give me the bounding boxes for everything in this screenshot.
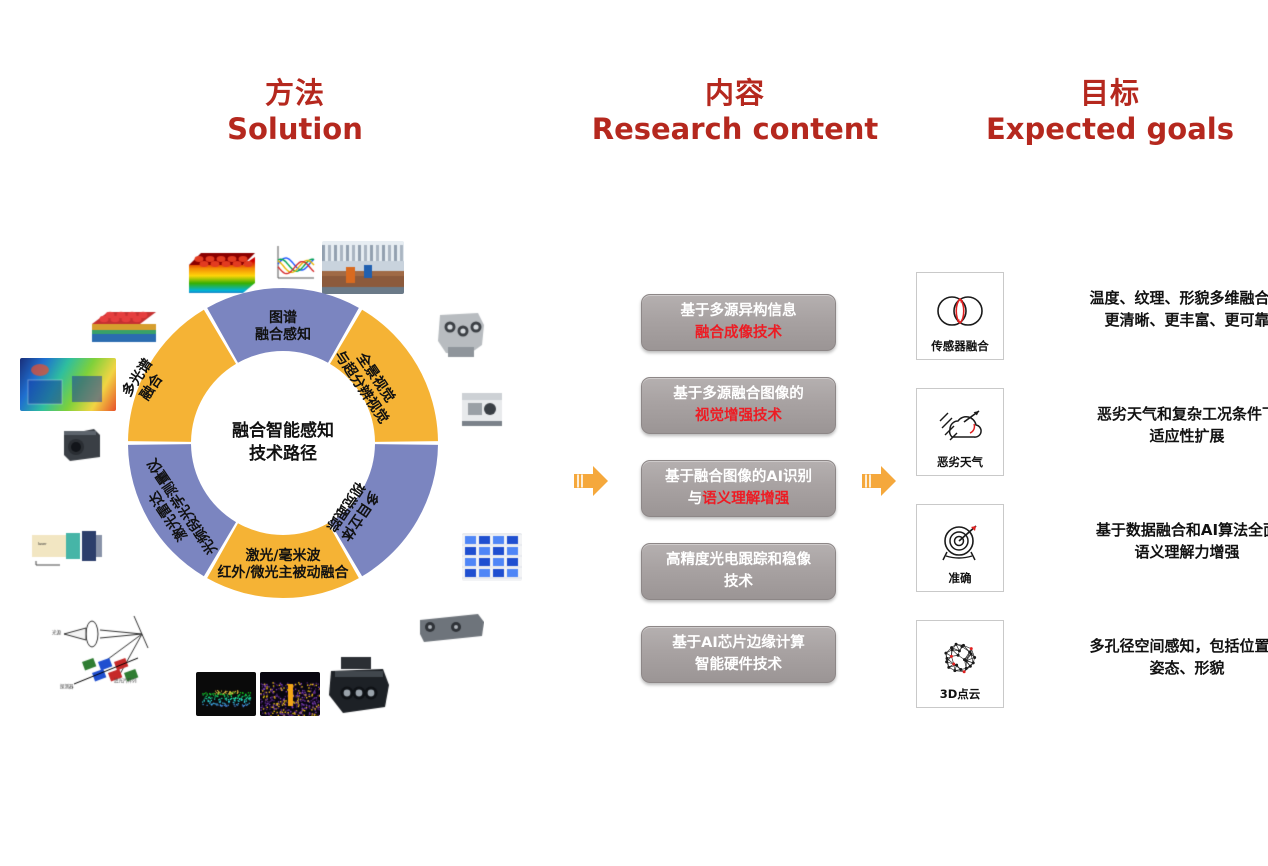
- lidar-point-cloud-thumb: [196, 672, 256, 716]
- column-header-research-content: 内容 Research content: [570, 76, 900, 146]
- solution-wheel: 图谱 融合感知 全景视觉 与超分辨视觉 多目立体 视觉跟踪 激光/毫米波 红外/…: [128, 288, 438, 598]
- goal-caption-accuracy: 准确: [949, 573, 972, 585]
- goal-row-sensor-fusion: 传感器融合 温度、纹理、形貌多维融合， 更清晰、更丰富、更可靠: [916, 272, 1268, 360]
- arrow-solution-to-content: [570, 460, 612, 502]
- research-box-1-line2: 融合成像技术: [695, 325, 782, 341]
- venn-overlap-icon: [933, 282, 987, 341]
- research-box-3[interactable]: 基于融合图像的AI识别 与语义理解增强: [641, 460, 836, 517]
- wheel-segment-top[interactable]: [207, 288, 359, 363]
- goal-card-point-cloud[interactable]: 3D点云: [916, 620, 1004, 708]
- wheel-center-label: 融合智能感知 技术路径: [232, 420, 334, 466]
- goal-text-accuracy: 基于数据融合和AI算法全面 语义理解力增强: [1037, 504, 1268, 564]
- header-en-content: Research content: [570, 112, 900, 146]
- thermal-fea-map-thumb: [20, 358, 116, 411]
- goal-caption-point-cloud: 3D点云: [940, 689, 981, 701]
- research-box-3-line1: 基于融合图像的AI识别: [665, 467, 812, 488]
- header-cn-content: 内容: [570, 76, 900, 110]
- header-cn-solution: 方法: [170, 76, 420, 110]
- thermal-scene-thumb: [260, 672, 320, 716]
- panoramic-sensor-head-thumb: [430, 305, 490, 360]
- goal-text-bad-weather: 恶劣天气和复杂工况条件下 适应性扩展: [1037, 388, 1268, 448]
- research-box-4-line2: 技术: [666, 572, 811, 593]
- research-box-3-prefix: 与: [688, 491, 703, 507]
- industrial-camera-thumb: [60, 425, 104, 463]
- goal-caption-sensor-fusion: 传感器融合: [931, 341, 989, 353]
- wheel-segment-bottom[interactable]: [207, 523, 359, 598]
- stereo-camera-bar-thumb: [418, 610, 484, 644]
- research-box-5-line1: 基于AI芯片边缘计算: [672, 633, 805, 654]
- point-cloud-icon: [937, 630, 983, 689]
- research-box-2-line1: 基于多源融合图像的: [673, 384, 804, 405]
- header-en-solution: Solution: [170, 112, 420, 146]
- arrow-content-to-goals: [858, 460, 900, 502]
- research-box-1-line1: 基于多源异构信息: [681, 301, 797, 322]
- research-box-4-line1: 高精度光电跟踪和稳像: [666, 550, 811, 571]
- structured-light-pattern-thumb: [462, 533, 522, 581]
- research-box-5-line2: 智能硬件技术: [672, 655, 805, 676]
- column-header-expected-goals: 目标 Expected goals: [960, 76, 1260, 146]
- goal-row-accuracy: 准确 基于数据融合和AI算法全面 语义理解力增强: [916, 504, 1268, 592]
- research-box-3-line2: 语义理解增强: [702, 491, 789, 507]
- research-box-4[interactable]: 高精度光电跟踪和稳像 技术: [641, 543, 836, 600]
- goal-text-sensor-fusion: 温度、纹理、形貌多维融合， 更清晰、更丰富、更可靠: [1037, 272, 1268, 332]
- diagram-canvas: 方法 Solution 内容 Research content 目标 Expec…: [0, 0, 1268, 866]
- goal-caption-bad-weather: 恶劣天气: [937, 457, 983, 469]
- gimbal-eo-turret-thumb: [325, 655, 393, 717]
- column-header-solution: 方法 Solution: [170, 76, 420, 146]
- optical-path-diagram-thumb: [48, 600, 170, 692]
- research-box-2-line2: 视觉增强技术: [695, 408, 782, 424]
- optical-instrument-thumb: [458, 385, 506, 429]
- goal-card-sensor-fusion[interactable]: 传感器融合: [916, 272, 1004, 360]
- research-box-1[interactable]: 基于多源异构信息 融合成像技术: [641, 294, 836, 351]
- bad-weather-icon: [934, 398, 986, 457]
- goal-text-point-cloud: 多孔径空间感知，包括位置、 姿态、形貌: [1037, 620, 1268, 680]
- target-dart-icon: [935, 514, 985, 573]
- goal-card-bad-weather[interactable]: 恶劣天气: [916, 388, 1004, 476]
- research-box-5[interactable]: 基于AI芯片边缘计算 智能硬件技术: [641, 626, 836, 683]
- goal-row-point-cloud: 3D点云 多孔径空间感知，包括位置、 姿态、形貌: [916, 620, 1268, 708]
- goal-card-accuracy[interactable]: 准确: [916, 504, 1004, 592]
- spectral-curve-chart-thumb: [268, 240, 318, 288]
- laser-module-diagram-thumb: [30, 525, 116, 567]
- header-cn-goals: 目标: [960, 76, 1260, 110]
- research-box-2[interactable]: 基于多源融合图像的 视觉增强技术: [641, 377, 836, 434]
- goal-row-bad-weather: 恶劣天气 恶劣天气和复杂工况条件下 适应性扩展: [916, 388, 1268, 476]
- industrial-pipe-photo-thumb: [322, 241, 404, 294]
- header-en-goals: Expected goals: [960, 112, 1260, 146]
